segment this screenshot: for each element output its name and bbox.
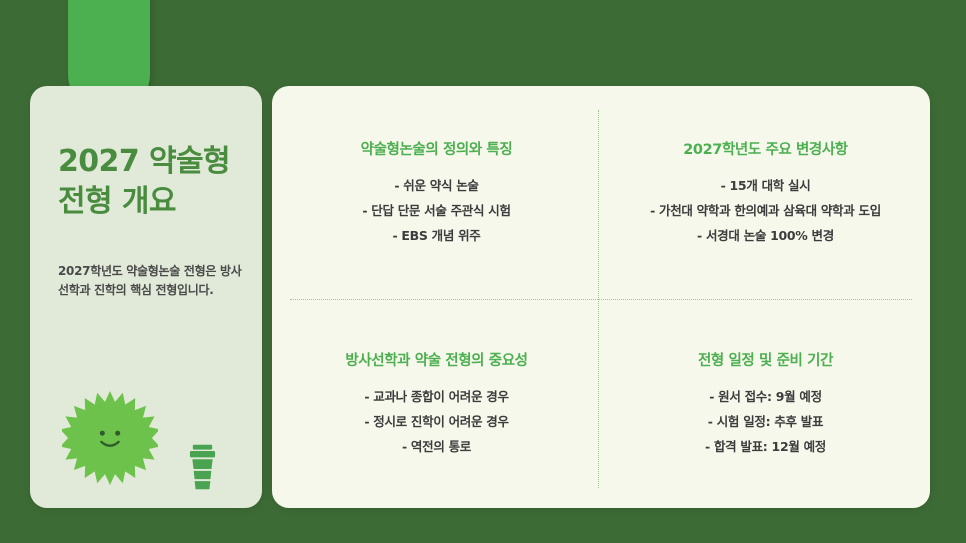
- quadrant-title: 약술형논술의 정의와 특징: [361, 138, 513, 159]
- coffee-cup-icon: [187, 444, 218, 491]
- quadrant-grid: 약술형논술의 정의와 특징 - 쉬운 약식 논술 - 단답 단문 서술 주관식 …: [272, 86, 930, 508]
- quadrant-definition: 약술형논술의 정의와 특징 - 쉬운 약식 논술 - 단답 단문 서술 주관식 …: [272, 86, 601, 297]
- spiky-sun-smiling-face-icon: [62, 390, 158, 486]
- quadrant-line: - 원서 접수: 9월 예정: [705, 388, 826, 406]
- quadrant-importance: 방사선학과 약술 전형의 중요성 - 교과나 종합이 어려운 경우 - 정시로 …: [272, 297, 601, 508]
- title-card: 2027 약술형 전형 개요 2027학년도 약술형논술 전형은 방사선학과 진…: [30, 86, 262, 508]
- subtitle-text: 2027학년도 약술형논술 전형은 방사선학과 진학의 핵심 전형입니다.: [58, 262, 244, 301]
- quadrant-line: - 15개 대학 실시: [650, 177, 881, 195]
- content-card: 약술형논술의 정의와 특징 - 쉬운 약식 논술 - 단답 단문 서술 주관식 …: [272, 86, 930, 508]
- quadrant-line: - EBS 개념 위주: [362, 227, 510, 245]
- quadrant-line: - 역전의 통로: [364, 438, 508, 456]
- mascot-area: [62, 390, 232, 494]
- quadrant-line: - 합격 발표: 12월 예정: [705, 438, 826, 456]
- quadrant-line: - 서경대 논술 100% 변경: [650, 227, 881, 245]
- quadrant-schedule: 전형 일정 및 준비 기간 - 원서 접수: 9월 예정 - 시험 일정: 추후…: [601, 297, 930, 508]
- quadrant-changes: 2027학년도 주요 변경사항 - 15개 대학 실시 - 가천대 약학과 한의…: [601, 86, 930, 297]
- quadrant-line: - 교과나 종합이 어려운 경우: [364, 388, 508, 406]
- quadrant-line: - 가천대 약학과 한의예과 삼육대 약학과 도입: [650, 202, 881, 220]
- quadrant-line: - 쉬운 약식 논술: [362, 177, 510, 195]
- slide-root: 2027 약술형 전형 개요 2027학년도 약술형논술 전형은 방사선학과 진…: [0, 0, 966, 543]
- divider-vertical: [598, 110, 599, 488]
- quadrant-title: 전형 일정 및 준비 기간: [698, 349, 833, 370]
- quadrant-lines: - 15개 대학 실시 - 가천대 약학과 한의예과 삼육대 약학과 도입 - …: [650, 177, 881, 245]
- quadrant-lines: - 교과나 종합이 어려운 경우 - 정시로 진학이 어려운 경우 - 역전의 …: [364, 388, 508, 456]
- divider-horizontal: [290, 299, 912, 300]
- quadrant-title: 2027학년도 주요 변경사항: [683, 138, 848, 159]
- quadrant-line: - 정시로 진학이 어려운 경우: [364, 413, 508, 431]
- quadrant-title: 방사선학과 약술 전형의 중요성: [345, 349, 527, 370]
- page-title: 2027 약술형 전형 개요: [58, 142, 244, 222]
- quadrant-line: - 시험 일정: 추후 발표: [705, 413, 826, 431]
- quadrant-lines: - 원서 접수: 9월 예정 - 시험 일정: 추후 발표 - 합격 발표: 1…: [705, 388, 826, 456]
- title-block: 2027 약술형 전형 개요: [58, 142, 244, 222]
- quadrant-line: - 단답 단문 서술 주관식 시험: [362, 202, 510, 220]
- quadrant-lines: - 쉬운 약식 논술 - 단답 단문 서술 주관식 시험 - EBS 개념 위주: [362, 177, 510, 245]
